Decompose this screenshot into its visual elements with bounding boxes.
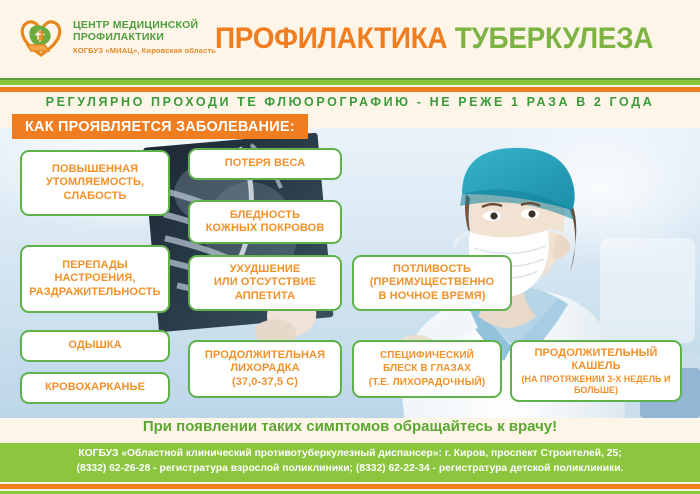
symptom-box-dyspnea[interactable]: ОДЫШКА: [20, 330, 170, 362]
symptom-line-1: УХУДШЕНИЕ: [230, 263, 301, 275]
symptom-text: БЛЕДНОСТЬ КОЖНЫХ ПОКРОВОВ: [206, 209, 325, 236]
symptom-box-fever[interactable]: ПРОДОЛЖИТЕЛЬНАЯ ЛИХОРАДКА (37,0-37,5 С): [188, 340, 342, 398]
symptom-line-1: ОДЫШКА: [68, 339, 121, 351]
symptom-box-hemoptysis[interactable]: КРОВОХАРКАНЬЕ: [20, 372, 170, 404]
symptom-line-2: НАСТРОЕНИЯ,: [54, 272, 135, 284]
poster-root: ЦЕНТР МЕДИЦИНСКОЙ ПРОФИЛАКТИКИ КОГБУЗ «М…: [0, 0, 700, 494]
symptom-text: ПЕРЕПАДЫ НАСТРОЕНИЯ, РАЗДРАЖИТЕЛЬНОСТЬ: [29, 259, 160, 300]
page-title: ПРОФИЛАКТИКА ТУБЕРКУЛЕЗА: [215, 22, 653, 56]
symptom-line-1: БЛЕДНОСТЬ: [230, 209, 300, 221]
symptom-box-weight-loss[interactable]: ПОТЕРЯ ВЕСА: [188, 148, 342, 180]
poster-title: ПРОФИЛАКТИКА ТУБЕРКУЛЕЗА: [215, 18, 700, 60]
symptom-line-2: (ПРЕИМУЩЕСТВЕННО: [370, 276, 494, 288]
symptom-line-3: СЛАБОСТЬ: [64, 190, 127, 202]
title-word-tuberculosis: ТУБЕРКУЛЕЗА: [455, 22, 653, 55]
stripe-orange: [0, 87, 700, 92]
symptom-box-sweating[interactable]: ПОТЛИВОСТЬ (ПРЕИМУЩЕСТВЕННО В НОЧНОЕ ВРЕ…: [352, 255, 512, 311]
symptom-box-mood[interactable]: ПЕРЕПАДЫ НАСТРОЕНИЯ, РАЗДРАЖИТЕЛЬНОСТЬ: [20, 245, 170, 313]
symptom-text: ОДЫШКА: [68, 339, 121, 353]
symptom-line-2: УТОМЛЯЕМОСТЬ,: [46, 176, 144, 188]
symptom-line-3: В НОЧНОЕ ВРЕМЯ): [379, 290, 486, 302]
symptom-box-eye-shine[interactable]: СПЕЦИФИЧЕСКИЙ БЛЕСК В ГЛАЗАХ (Т.Е. ЛИХОР…: [352, 340, 502, 398]
section-heading-label: КАК ПРОЯВЛЯЕТСЯ ЗАБОЛЕВАНИЕ:: [25, 119, 295, 135]
symptom-line-1: ПОВЫШЕННАЯ: [52, 163, 138, 175]
symptom-line-3: (37,0-37,5 С): [232, 376, 298, 388]
symptom-text: КРОВОХАРКАНЬЕ: [45, 381, 145, 395]
logo-line-2: ПРОФИЛАКТИКИ: [73, 31, 216, 44]
section-heading: КАК ПРОЯВЛЯЕТСЯ ЗАБОЛЕВАНИЕ:: [12, 114, 308, 139]
symptom-box-fatigue[interactable]: ПОВЫШЕННАЯ УТОМЛЯЕМОСТЬ, СЛАБОСТЬ: [20, 150, 170, 216]
symptom-text: ПОВЫШЕННАЯ УТОМЛЯЕМОСТЬ, СЛАБОСТЬ: [46, 163, 144, 204]
symptom-line-2: БЛЕСК В ГЛАЗАХ: [383, 363, 471, 374]
organization-logo-text: ЦЕНТР МЕДИЦИНСКОЙ ПРОФИЛАКТИКИ КОГБУЗ «М…: [73, 19, 216, 56]
symptom-sub-note: (НА ПРОТЯЖЕНИИ 3-Х НЕДЕЛЬ И БОЛЬШЕ): [517, 374, 675, 396]
symptom-box-cough[interactable]: ПРОДОЛЖИТЕЛЬНЫЙ КАШЕЛЬ (НА ПРОТЯЖЕНИИ 3-…: [510, 340, 682, 402]
symptom-text: СПЕЦИФИЧЕСКИЙ БЛЕСК В ГЛАЗАХ (Т.Е. ЛИХОР…: [369, 349, 485, 390]
call-to-action-text: При появлении таких симптомов обращайтес…: [0, 418, 700, 435]
symptom-line-2: КАШЕЛЬ: [571, 360, 620, 372]
symptom-text: ПОТЕРЯ ВЕСА: [225, 157, 306, 171]
symptom-text: УХУДШЕНИЕ ИЛИ ОТСУТСТВИЕ АППЕТИТА: [214, 263, 316, 304]
symptom-line-1: КРОВОХАРКАНЬЕ: [45, 381, 145, 393]
footer-divider-stripes: [0, 478, 700, 494]
symptom-text: ПРОДОЛЖИТЕЛЬНЫЙ КАШЕЛЬ (НА ПРОТЯЖЕНИИ 3-…: [517, 347, 675, 396]
symptom-line-1: ПОТЛИВОСТЬ: [393, 263, 471, 275]
organization-logo: ЦЕНТР МЕДИЦИНСКОЙ ПРОФИЛАКТИКИ КОГБУЗ «М…: [18, 14, 216, 60]
symptom-line-3: РАЗДРАЖИТЕЛЬНОСТЬ: [29, 286, 160, 298]
symptom-line-2: ИЛИ ОТСУТСТВИЕ: [214, 276, 316, 288]
symptom-line-1: ПОТЕРЯ ВЕСА: [225, 157, 306, 169]
footer-address: КОГБУЗ «Областной клинический противотуб…: [78, 447, 621, 460]
symptom-line-2: ЛИХОРАДКА: [230, 362, 299, 374]
logo-line-3: КОГБУЗ «МИАЦ», Кировская область: [73, 45, 216, 56]
symptom-text: ПОТЛИВОСТЬ (ПРЕИМУЩЕСТВЕННО В НОЧНОЕ ВРЕ…: [370, 263, 494, 304]
symptom-line-3: (Т.Е. ЛИХОРАДОЧНЫЙ): [369, 377, 485, 388]
poster-header: ЦЕНТР МЕДИЦИНСКОЙ ПРОФИЛАКТИКИ КОГБУЗ «М…: [0, 0, 700, 78]
heart-map-logo-icon: [18, 14, 64, 60]
symptom-line-3: АППЕТИТА: [235, 290, 295, 302]
title-word-prevention: ПРОФИЛАКТИКА: [215, 22, 447, 55]
symptom-box-appetite[interactable]: УХУДШЕНИЕ ИЛИ ОТСУТСТВИЕ АППЕТИТА: [188, 255, 342, 311]
poster-footer: КОГБУЗ «Областной клинический противотуб…: [0, 443, 700, 478]
footer-phones: (8332) 62-26-28 - регистратура взрослой …: [77, 462, 624, 475]
symptom-line-1: ПЕРЕПАДЫ: [62, 259, 128, 271]
symptom-line-1: ПРОДОЛЖИТЕЛЬНАЯ: [205, 349, 325, 361]
symptom-line-1: СПЕЦИФИЧЕСКИЙ: [380, 350, 474, 361]
logo-line-1: ЦЕНТР МЕДИЦИНСКОЙ: [73, 19, 216, 32]
symptom-line-1: ПРОДОЛЖИТЕЛЬНЫЙ: [535, 347, 658, 359]
slogan-text: РЕГУЛЯРНО ПРОХОДИ ТЕ ФЛЮОРОГРАФИЮ - НЕ Р…: [0, 95, 700, 109]
header-divider-stripes: [0, 78, 700, 92]
symptom-box-pale-skin[interactable]: БЛЕДНОСТЬ КОЖНЫХ ПОКРОВОВ: [188, 200, 342, 244]
symptom-line-2: КОЖНЫХ ПОКРОВОВ: [206, 222, 325, 234]
symptom-text: ПРОДОЛЖИТЕЛЬНАЯ ЛИХОРАДКА (37,0-37,5 С): [205, 349, 325, 390]
